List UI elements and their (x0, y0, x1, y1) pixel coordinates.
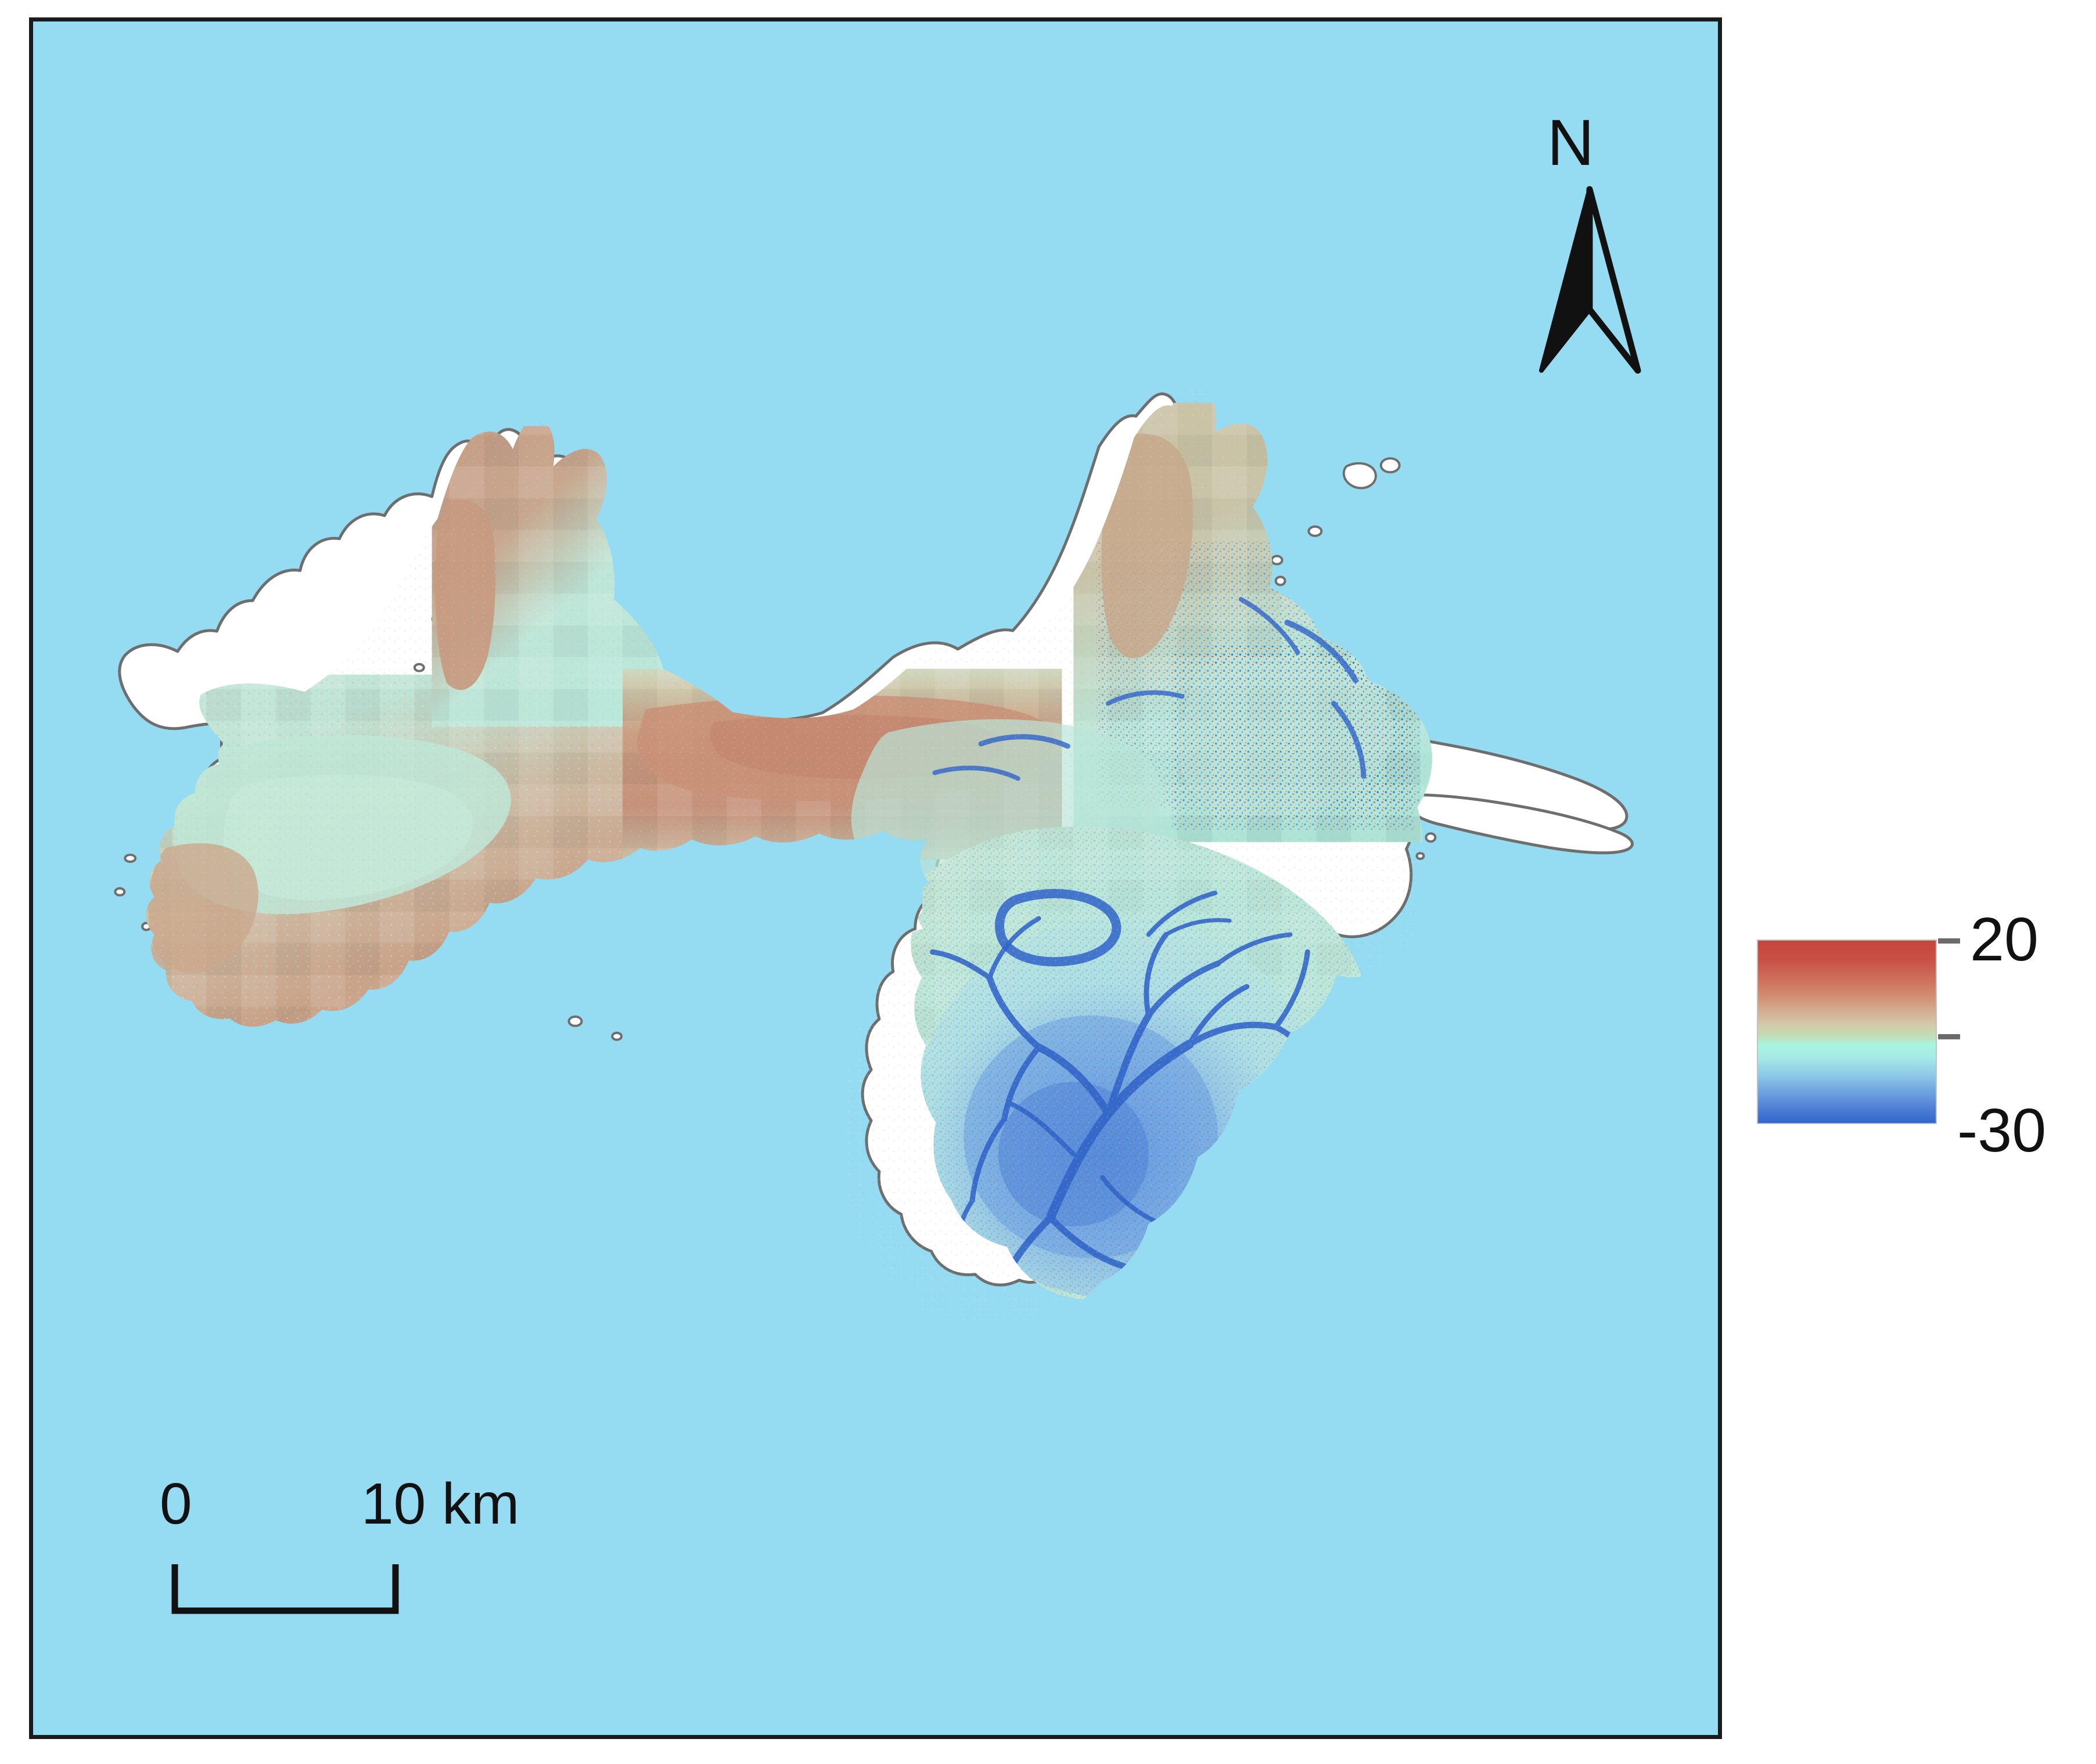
scale-bar: 0 10 km (139, 1475, 546, 1626)
scale-bar-min-label: 0 (160, 1475, 192, 1533)
scale-bar-max-label: 10 km (361, 1475, 519, 1533)
north-arrow-icon (1533, 179, 1649, 382)
colorbar-min-label: -30 (1957, 1100, 2046, 1161)
north-arrow: N (1533, 110, 1649, 383)
colorbar-max-label: 20 (1970, 909, 2039, 970)
colorbar-tick-mid (1938, 1034, 1960, 1039)
scale-bar-graphic (171, 1561, 415, 1625)
legend-colorbar: 20 -30 (1754, 906, 2085, 1185)
colorbar-tick-max (1938, 938, 1960, 944)
north-arrow-label: N (1547, 110, 1594, 175)
colorbar-ramp (1757, 939, 1937, 1124)
